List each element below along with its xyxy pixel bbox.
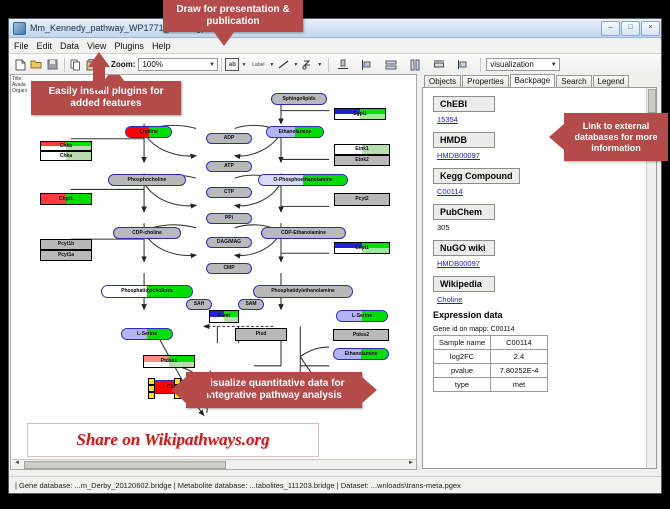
table-row: log2FC 2.4	[434, 350, 548, 364]
pathvisio-window: Mm_Kennedy_pathway_WP1771_45176.gpml – □…	[8, 18, 662, 494]
metabolite-node-ppi[interactable]: PPi	[206, 213, 252, 224]
metabolite-node-phosphatidylethanolamine[interactable]: Phosphatidylethanolamine	[253, 285, 353, 298]
menu-item-view[interactable]: View	[87, 41, 106, 51]
tab-objects[interactable]: Objects	[424, 75, 461, 87]
minimize-button[interactable]: –	[601, 21, 620, 36]
callout-visualize-arrow-left-icon	[171, 377, 186, 403]
db-link-nugo[interactable]: HMDB00097	[437, 259, 656, 268]
toolbar-separator	[64, 58, 65, 72]
gene-node-chka[interactable]: Chka	[40, 151, 92, 161]
callout-links: Link to external databases for more info…	[564, 113, 668, 161]
node-label: SAM	[245, 302, 256, 307]
gene-id-line: Gene id on mapp: C00114	[433, 326, 656, 333]
table-row: pvalue 7.80252E-4	[434, 364, 548, 378]
zoom-value: 100%	[142, 60, 162, 69]
node-label: CDP-choline	[132, 231, 162, 236]
db-label-hmdb: HMDB	[433, 132, 495, 148]
node-label: Ethanolamine	[279, 130, 312, 135]
callout-draw-arrow-icon	[213, 31, 235, 46]
gene-node-sgpl1[interactable]: Sgpl1	[334, 108, 386, 120]
status-bar-text: | Gene database: ...m_Derby_20120602.bri…	[15, 481, 461, 490]
metabolite-node-phosphatidylcholines[interactable]: Phosphatidylcholines	[101, 285, 193, 298]
node-label: Chka	[60, 154, 72, 159]
node-label: Chpt1	[59, 197, 73, 202]
callout-visualize: Visualize quantitative data for integrat…	[186, 372, 362, 408]
metabolite-node-sphingolipids[interactable]: Sphingolipids	[271, 93, 327, 105]
node-label: CDP-Ethanolamine	[281, 231, 326, 236]
pathway-canvas[interactable]: Title: Availa Organi	[10, 74, 417, 470]
gene-node-pcyt2[interactable]: Pcyt2	[334, 193, 390, 206]
expression-table: Sample name C00114 log2FC 2.4 pvalue 7.8…	[433, 335, 548, 392]
node-label: Phosphatidylethanolamine	[271, 289, 335, 294]
metabolite-node-ethanolamine-top[interactable]: Ethanolamine	[266, 126, 324, 138]
status-bar: | Gene database: ...m_Derby_20120602.bri…	[9, 476, 661, 493]
chevron-down-icon[interactable]: ▼	[293, 62, 298, 68]
label-tool-icon[interactable]: Label	[249, 57, 267, 72]
chevron-down-icon[interactable]: ▼	[548, 62, 559, 68]
callout-plugins-pointer-icon	[88, 52, 110, 67]
db-group-nugo: NuGO wiki HMDB00097	[433, 238, 656, 268]
metabolite-node-dagmag[interactable]: DAG/MAG	[206, 237, 252, 248]
metabolite-node-l-serine-left[interactable]: L-Serine	[121, 328, 173, 340]
gene-node-pcyt1b[interactable]: Pcyt1b	[40, 239, 92, 250]
db-label-nugo: NuGO wiki	[433, 240, 495, 256]
node-label: Pcyt2	[355, 197, 368, 202]
node-label: PPi	[225, 216, 233, 221]
line-tool-icon[interactable]	[277, 57, 291, 72]
side-panel-tabs: Objects Properties Backpage Search Legen…	[418, 73, 661, 87]
node-label: Ethanolamine	[345, 352, 378, 357]
text-tool-icon[interactable]: ab	[225, 58, 239, 71]
metabolite-node-cdp-choline[interactable]: CDP-choline	[113, 227, 181, 239]
chevron-down-icon[interactable]: ▼	[206, 62, 217, 68]
node-label: Pemt	[218, 314, 230, 319]
db-label-pubchem: PubChem	[433, 204, 495, 220]
tab-search[interactable]: Search	[556, 75, 591, 87]
node-label: Phosphatidylcholines	[121, 289, 173, 294]
align-bottom-icon[interactable]	[336, 57, 350, 72]
node-label: CMP	[223, 266, 234, 271]
db-label-wikipedia: Wikipedia	[433, 276, 495, 292]
expr-key-log2fc: log2FC	[434, 350, 491, 364]
selection-handle[interactable]	[148, 392, 155, 399]
gene-node-etnk2[interactable]: Etnk2	[334, 155, 390, 166]
db-link-kegg[interactable]: C00114	[437, 187, 656, 196]
node-label: L-Serine	[352, 314, 372, 319]
new-file-icon[interactable]	[13, 57, 27, 72]
node-label: CTP	[224, 190, 234, 195]
metabolite-node-cmp[interactable]: CMP	[206, 263, 252, 274]
db-group-wikipedia: Wikipedia Choline	[433, 274, 656, 304]
tab-legend[interactable]: Legend	[593, 75, 630, 87]
chevron-down-icon[interactable]: ▼	[241, 62, 246, 68]
pathway-info-header: Title: Availa Organi	[12, 76, 27, 94]
metabolite-node-atp[interactable]: ATP	[206, 161, 252, 172]
zoom-label: Zoom:	[111, 60, 135, 69]
scroll-right-icon[interactable]: ►	[406, 460, 416, 468]
node-label: DAG/MAG	[217, 240, 241, 245]
window-controls: – □ ×	[601, 21, 661, 36]
metabolite-node-o-phosphoethanolamine[interactable]: O-Phosphoethanolamine	[258, 174, 348, 186]
metabolite-node-adp[interactable]: ADP	[206, 133, 252, 144]
visualization-combobox[interactable]: visualization ▼	[486, 58, 560, 71]
selection-handle[interactable]	[148, 385, 155, 392]
toolbar-separator	[328, 58, 329, 72]
expr-key-sample-name: Sample name	[434, 336, 491, 350]
app-icon	[13, 22, 26, 35]
share-banner-text: Share on Wikipathways.org	[76, 430, 269, 450]
node-label: Cept1	[355, 246, 369, 251]
node-label: Phosphocholine	[128, 178, 167, 183]
canvas-hscrollbar[interactable]: ◄ ►	[12, 459, 416, 469]
menu-item-file[interactable]: File	[14, 41, 29, 51]
gene-node-chkb[interactable]: Chkb	[40, 141, 92, 151]
menu-item-edit[interactable]: Edit	[37, 41, 53, 51]
title-bar: Mm_Kennedy_pathway_WP1771_45176.gpml – □…	[9, 19, 661, 38]
gene-node-ptdss2[interactable]: Ptdss2	[333, 329, 389, 341]
node-label: ADP	[224, 136, 235, 141]
gene-node-pcyt1a[interactable]: Pcyt1a	[40, 250, 92, 261]
node-label: Pisd	[256, 332, 267, 337]
db-group-pubchem: PubChem 305	[433, 202, 656, 232]
hscroll-thumb[interactable]	[24, 461, 226, 469]
metabolite-node-cdp-ethanolamine[interactable]: CDP-Ethanolamine	[261, 227, 346, 239]
node-label: L-Serine	[137, 332, 157, 337]
metabolite-node-choline-top[interactable]: Choline	[125, 126, 172, 138]
open-folder-icon[interactable]	[29, 57, 43, 72]
expression-data-heading: Expression data	[433, 310, 656, 320]
node-label: Etnk2	[355, 158, 369, 163]
menu-item-help[interactable]: Help	[152, 41, 171, 51]
chevron-down-icon[interactable]: ▼	[317, 62, 322, 68]
order-icon[interactable]	[456, 57, 470, 72]
node-label: Pcyt1a	[58, 253, 74, 258]
node-label: O-Phosphoethanolamine	[273, 178, 332, 183]
panel-scroll-thumb[interactable]	[648, 89, 656, 113]
node-label: Ptdss2	[353, 333, 369, 338]
close-button[interactable]: ×	[641, 21, 660, 36]
metabolite-node-ctp[interactable]: CTP	[206, 187, 252, 198]
callout-visualize-pointer-icon	[196, 370, 211, 396]
gene-node-chpt1[interactable]: Chpt1	[40, 193, 92, 205]
gene-node-cept1[interactable]: Cept1	[334, 242, 390, 254]
node-label: Etnk1	[355, 147, 369, 152]
menu-item-plugins[interactable]: Plugins	[114, 41, 144, 51]
tab-backpage[interactable]: Backpage	[510, 74, 556, 87]
expr-val-log2fc: 2.4	[491, 350, 548, 364]
distribute-vertical-icon[interactable]	[384, 57, 398, 72]
db-value-pubchem: 305	[437, 223, 656, 232]
distribute-horizontal-icon[interactable]	[408, 57, 422, 72]
callout-links-arrow-icon	[549, 124, 564, 150]
copy-icon[interactable]	[68, 57, 82, 72]
expr-val-type: met	[491, 378, 548, 392]
expr-key-pvalue: pvalue	[434, 364, 491, 378]
metabolite-node-sah[interactable]: SAH	[186, 299, 212, 310]
share-banner: Share on Wikipathways.org	[27, 423, 319, 457]
table-row: type met	[434, 378, 548, 392]
chevron-down-icon[interactable]: ▼	[269, 62, 274, 68]
toolbar-separator	[221, 58, 222, 72]
expr-val-pvalue: 7.80252E-4	[491, 364, 548, 378]
db-label-kegg: Kegg Compound	[433, 168, 520, 184]
callout-visualize-arrow-right-icon	[362, 377, 377, 403]
save-icon[interactable]	[45, 57, 59, 72]
callout-plugins: Easily install plugins for added feature…	[31, 81, 181, 115]
toolbar-separator	[480, 58, 481, 72]
db-group-kegg: Kegg Compound C00114	[433, 166, 656, 196]
gene-node-etnk1[interactable]: Etnk1	[334, 144, 390, 155]
selection-handle[interactable]	[148, 378, 155, 385]
maximize-button[interactable]: □	[621, 21, 640, 36]
gene-node-pemt[interactable]: Pemt	[209, 310, 239, 323]
zoom-combobox[interactable]: 100% ▼	[138, 58, 218, 71]
node-label: Chkb	[60, 144, 73, 149]
expr-key-type: type	[434, 378, 491, 392]
metabolite-node-l-serine-right[interactable]: L-Serine	[336, 310, 388, 322]
expr-val-sample-name: C00114	[491, 336, 548, 350]
metabolite-node-ethanolamine-right[interactable]: Ethanolamine	[333, 348, 389, 360]
callout-plugins-stem	[93, 66, 105, 90]
db-link-wikipedia[interactable]: Choline	[437, 295, 656, 304]
node-label: Pcyt1b	[58, 242, 74, 247]
align-left-icon[interactable]	[360, 57, 374, 72]
node-label: Sphingolipids	[282, 97, 315, 102]
group-icon[interactable]	[432, 57, 446, 72]
callout-plugins-arrow-icon	[103, 74, 125, 82]
tab-properties[interactable]: Properties	[462, 75, 508, 87]
scroll-left-icon[interactable]: ◄	[12, 460, 22, 468]
gene-node-ptdss1[interactable]: Ptdss1	[143, 355, 195, 368]
db-label-chebi: ChEBI	[433, 96, 495, 112]
gene-node-pisd[interactable]: Pisd	[235, 328, 287, 341]
info-line-organism: Organi	[12, 88, 27, 94]
node-label: Sgpl1	[353, 112, 367, 117]
table-row: Sample name C00114	[434, 336, 548, 350]
metabolite-node-sam[interactable]: SAM	[238, 299, 264, 310]
node-label: Ptdss1	[161, 359, 177, 364]
node-label: SAH	[194, 302, 205, 307]
metabolite-node-phosphocholine[interactable]: Phosphocholine	[108, 174, 186, 186]
node-label: ATP	[224, 164, 234, 169]
node-label: Choline	[139, 130, 157, 135]
menu-item-data[interactable]: Data	[60, 41, 79, 51]
anchor-tool-icon[interactable]	[301, 57, 315, 72]
callout-draw: Draw for presentation & publication	[163, 0, 303, 32]
visualization-value: visualization	[490, 60, 534, 69]
